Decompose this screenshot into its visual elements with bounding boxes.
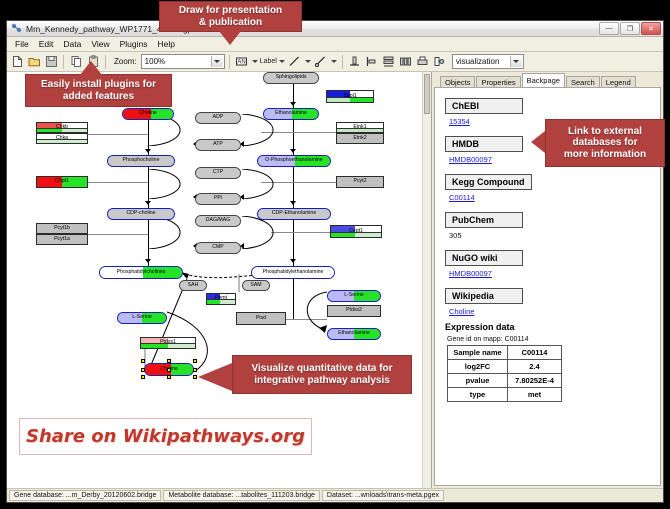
callout-easily-install-plugins: Easily install plugins foradded features xyxy=(25,74,172,107)
menu-edit[interactable]: Edit xyxy=(34,38,59,50)
section-heading-wikipedia: Wikipedia xyxy=(445,288,523,304)
print-icon[interactable] xyxy=(415,54,431,70)
pathway-node-l-serine-left[interactable]: L-Serine xyxy=(117,312,167,324)
pathway-node-label: L-Serine xyxy=(344,293,364,298)
pathway-node-o-phosphoethanolamine[interactable]: O-Phosphoethanolamine xyxy=(257,155,331,167)
pathway-node-phosphatidylethanolamine[interactable]: Phosphatidylethanolamine xyxy=(251,266,335,279)
expression-data-heading: Expression data xyxy=(445,322,660,332)
pathway-curve xyxy=(149,216,195,249)
pathway-node-label: CTP xyxy=(213,170,223,175)
pathway-node-label: Chkb xyxy=(56,125,68,130)
minimize-button[interactable]: — xyxy=(599,22,619,35)
pathway-node-label: Ptdss2 xyxy=(346,308,362,313)
arrowhead-icon xyxy=(290,149,296,153)
pathway-node-label: Sgpl1 xyxy=(343,94,356,99)
line-dropdown-icon[interactable] xyxy=(304,54,312,70)
pathway-node-label: Ptdss1 xyxy=(160,340,176,345)
pathway-node-label: Pcyt2 xyxy=(354,179,367,184)
pathway-node-label: Etnk2 xyxy=(353,136,366,141)
scrollbar-thumb[interactable] xyxy=(424,74,430,114)
pathway-node-label: Choline xyxy=(139,111,157,116)
menu-view[interactable]: View xyxy=(86,38,114,50)
selection-handle[interactable] xyxy=(167,375,171,379)
callout-text: Draw for presentation& publication xyxy=(179,5,282,28)
zoom-value: 100% xyxy=(145,57,165,66)
row-value: met xyxy=(508,388,562,402)
selection-handle[interactable] xyxy=(193,375,197,379)
selection-handle[interactable] xyxy=(167,359,171,363)
pathway-node-label: Phosphatidylethanolamine xyxy=(263,270,324,275)
pathway-node-chka[interactable]: Chka xyxy=(36,133,88,144)
pathway-node-label: Ethanolamine xyxy=(338,331,370,336)
pathway-node-label: CDP-Ethanolamine xyxy=(272,211,316,216)
status-metabolite-database: Metabolite database: ...tabolites_111203… xyxy=(163,490,319,501)
pathway-node-label: Phosphocholine xyxy=(123,158,160,163)
row-key: Sample name xyxy=(448,346,508,360)
pathway-node-ethanolamine-bottom[interactable]: Ethanolamine xyxy=(327,328,381,340)
menu-help[interactable]: Help xyxy=(153,38,180,50)
pathway-node-sah[interactable]: SAH xyxy=(179,280,207,291)
pathway-node-sphingolipids[interactable]: Sphingolipids xyxy=(263,72,319,84)
pathway-node-label: Pisd xyxy=(256,316,266,321)
gene-id-on-mapp: Gene id on mapp: C00114 xyxy=(447,336,660,343)
pathvisio-app-icon xyxy=(11,23,22,34)
pathway-node-label: PPi xyxy=(214,196,222,201)
pathway-node-label: Pcyt1b xyxy=(54,226,70,231)
pathway-node-chkb[interactable]: Chkb xyxy=(36,122,88,133)
callout-text: Link to externaldatabases formore inform… xyxy=(564,126,646,161)
pathway-node-label: Cept1 xyxy=(349,229,363,234)
pathway-node-label: SAM xyxy=(250,283,261,288)
pathway-node-pcyt1a[interactable]: Pcyt1a xyxy=(36,234,88,245)
pathway-node-phosphocholine[interactable]: Phosphocholine xyxy=(107,155,175,167)
datanode-dropdown-icon[interactable] xyxy=(251,54,259,70)
pathway-node-label: Chka xyxy=(56,136,68,141)
pathway-node-label: ADP xyxy=(213,115,224,120)
chevron-down-icon[interactable] xyxy=(211,56,223,67)
table-row: Sample name C00114 xyxy=(448,346,562,360)
section-heading-kegg: Kegg Compound xyxy=(445,174,532,190)
pathway-node-label: ATP xyxy=(213,142,223,147)
window-title-bar: Mm_Kennedy_pathway_WP1771_45176.gpml — ❐… xyxy=(7,21,663,37)
pathway-node-cept1[interactable]: Cept1 xyxy=(330,225,382,238)
pathway-edge xyxy=(88,234,148,235)
pathway-node-ptdss2[interactable]: Ptdss2 xyxy=(327,305,381,317)
pathway-edge xyxy=(88,182,148,183)
toolbar-separator-1 xyxy=(63,55,64,69)
pathway-node-ppi[interactable]: PPi xyxy=(195,193,241,205)
callout-draw-for-presentation: Draw for presentation& publication xyxy=(159,1,302,32)
pathway-node-sgpl1[interactable]: Sgpl1 xyxy=(326,90,374,103)
interaction-icon[interactable] xyxy=(313,54,329,70)
section-heading-pubchem: PubChem xyxy=(445,212,523,228)
row-value: C00114 xyxy=(508,346,562,360)
pathway-node-pcyt1b[interactable]: Pcyt1b xyxy=(36,223,88,234)
link-kegg[interactable]: C00114 xyxy=(449,193,660,202)
value-pubchem: 305 xyxy=(449,231,660,240)
table-row: type met xyxy=(448,388,562,402)
pathway-node-ptdss1[interactable]: Ptdss1 xyxy=(140,337,196,349)
pathway-node-label: Phosphatidylcholines xyxy=(117,270,166,275)
section-heading-nugowiki: NuGO wiki xyxy=(445,250,523,266)
row-value: 7.80252E-4 xyxy=(508,374,562,388)
pathway-node-etnk2[interactable]: Etnk2 xyxy=(336,133,384,144)
pathway-node-label: Pemt xyxy=(215,296,227,301)
toolbar-separator-4 xyxy=(342,55,343,69)
section-heading-hmdb: HMDB xyxy=(445,136,523,152)
pathway-node-cmp[interactable]: CMP xyxy=(195,242,241,254)
main-toolbar: Zoom: 100% AN Label xyxy=(7,52,663,72)
selection-handle[interactable] xyxy=(167,368,171,372)
pathway-node-label: DAG/MAG xyxy=(206,218,231,223)
arrowhead-icon xyxy=(290,259,296,263)
zoom-label: Zoom: xyxy=(114,57,137,66)
pathway-node-phosphatidylcholines[interactable]: Phosphatidylcholines xyxy=(99,266,183,279)
pathway-node-pemt[interactable]: Pemt xyxy=(206,293,236,305)
arrowhead-icon xyxy=(145,259,151,263)
pathway-node-etnk1[interactable]: Etnk1 xyxy=(336,122,384,133)
row-key: type xyxy=(448,388,508,402)
canvas-vertical-scrollbar[interactable] xyxy=(422,72,431,488)
pathway-edge xyxy=(88,134,148,135)
callout-visualize-arrow-icon xyxy=(198,363,232,391)
selection-handle[interactable] xyxy=(141,359,145,363)
menu-data[interactable]: Data xyxy=(58,38,86,50)
link-wikipedia[interactable]: Choline xyxy=(449,307,660,316)
pathway-node-label: Pcyt1a xyxy=(54,237,70,242)
datanode-icon[interactable]: AN xyxy=(234,54,250,70)
pathway-node-adp[interactable]: ADP xyxy=(195,112,241,124)
chevron-down-icon[interactable] xyxy=(510,56,522,67)
pathway-node-pcyt2[interactable]: Pcyt2 xyxy=(336,176,384,188)
selection-handle[interactable] xyxy=(141,368,145,372)
align-left-icon[interactable] xyxy=(364,54,380,70)
pathway-curve xyxy=(242,169,288,199)
arrowhead-icon xyxy=(145,149,151,153)
callout-text: Share on Wikipathways.org xyxy=(26,426,305,447)
pathway-node-label: SAH xyxy=(188,283,199,288)
menu-plugins[interactable]: Plugins xyxy=(115,38,153,50)
arrowhead-icon xyxy=(145,201,151,205)
link-nugowiki[interactable]: HMDB00097 xyxy=(449,269,660,278)
pathway-node-label: O-Phosphoethanolamine xyxy=(265,158,322,163)
pathway-node-label: Chpt1 xyxy=(55,179,69,184)
row-value: 2.4 xyxy=(508,360,562,374)
selection-handle[interactable] xyxy=(193,359,197,363)
pathway-node-l-serine-right[interactable]: L-Serine xyxy=(327,290,381,302)
pathway-node-pisd[interactable]: Pisd xyxy=(236,312,286,325)
callout-visualize-quantitative-data: Visualize quantitative data forintegrati… xyxy=(232,355,412,394)
tab-backpage[interactable]: Backpage xyxy=(522,73,565,87)
callout-links-arrow-icon xyxy=(531,131,545,153)
pathway-node-label: CMP xyxy=(212,245,224,250)
callout-draw-arrow-icon xyxy=(219,31,241,45)
pathway-curve xyxy=(242,216,288,249)
toolbar-separator-2 xyxy=(105,55,106,69)
pathway-node-chpt1[interactable]: Chpt1 xyxy=(36,176,88,188)
save-disk-icon[interactable] xyxy=(43,54,59,70)
pathway-node-choline[interactable]: Choline xyxy=(122,108,174,120)
section-heading-chebi: ChEBI xyxy=(445,98,523,114)
open-folder-icon[interactable] xyxy=(26,54,42,70)
pathway-node-cdp-ethanolamine[interactable]: CDP-Ethanolamine xyxy=(257,208,331,220)
pathway-node-ethanolamine-top[interactable]: Ethanolamine xyxy=(263,108,319,120)
stack-vertical-icon[interactable] xyxy=(381,54,397,70)
window-controls: — ❐ ✕ xyxy=(599,22,661,35)
selection-handle[interactable] xyxy=(141,375,145,379)
align-top-icon[interactable] xyxy=(347,54,363,70)
arrowhead-icon xyxy=(290,102,296,106)
close-button[interactable]: ✕ xyxy=(641,22,661,35)
visualization-combobox[interactable]: visualization xyxy=(452,54,524,69)
selection-handle[interactable] xyxy=(193,368,197,372)
side-panel-tabs: Objects Properties Backpage Search Legen… xyxy=(432,72,663,87)
status-gene-database: Gene database: ...m_Derby_20120602.bridg… xyxy=(9,490,161,501)
visualization-value: visualization xyxy=(456,57,500,66)
row-key: pvalue xyxy=(448,374,508,388)
interaction-dropdown-icon[interactable] xyxy=(330,54,338,70)
callout-share-on-wikipathways: Share on Wikipathways.org xyxy=(19,418,312,455)
toolbar-separator-3 xyxy=(229,55,230,69)
status-bar: Gene database: ...m_Derby_20120602.bridg… xyxy=(7,488,663,502)
pathway-node-sam[interactable]: SAM xyxy=(242,280,270,291)
label-dropdown-icon[interactable] xyxy=(278,54,286,70)
menu-bar: File Edit Data View Plugins Help xyxy=(7,37,663,52)
svg-text:AN: AN xyxy=(238,60,246,66)
expression-data-table: Sample name C00114 log2FC 2.4 pvalue 7.8… xyxy=(447,345,562,402)
pathway-node-label: CDP-choline xyxy=(126,211,155,216)
callout-link-to-external-databases: Link to externaldatabases formore inform… xyxy=(545,119,665,167)
pathway-node-label: Sphingolipids xyxy=(276,75,307,80)
callout-text: Visualize quantitative data forintegrati… xyxy=(252,363,393,386)
pathway-node-label: L-Serine xyxy=(132,315,152,320)
pathway-node-atp[interactable]: ATP xyxy=(195,139,241,151)
pathway-node-label: Ethanolamine xyxy=(275,111,307,116)
label-tool-label[interactable]: Label xyxy=(260,58,277,65)
callout-plugins-arrow-icon xyxy=(80,61,102,75)
callout-text: Easily install plugins foradded features xyxy=(41,79,156,102)
menu-file[interactable]: File xyxy=(10,38,34,50)
pathway-node-label: Etnk1 xyxy=(353,125,366,130)
pathway-node-dag-mag[interactable]: DAG/MAG xyxy=(195,215,241,227)
line-icon[interactable] xyxy=(287,54,303,70)
table-row: log2FC 2.4 xyxy=(448,360,562,374)
order-icon[interactable] xyxy=(432,54,448,70)
pathway-node-cdp-choline[interactable]: CDP-choline xyxy=(107,208,175,220)
pathway-curve xyxy=(149,169,195,199)
distribute-icon[interactable] xyxy=(398,54,414,70)
maximize-button[interactable]: ❐ xyxy=(620,22,640,35)
row-key: log2FC xyxy=(448,360,508,374)
pathway-node-ctp[interactable]: CTP xyxy=(195,167,241,179)
new-file-icon[interactable] xyxy=(9,54,25,70)
status-dataset: Dataset: ...wnloads\trans-meta.pgex xyxy=(322,490,444,501)
table-row: pvalue 7.80252E-4 xyxy=(448,374,562,388)
zoom-combobox[interactable]: 100% xyxy=(141,54,225,69)
arrowhead-icon xyxy=(290,201,296,205)
